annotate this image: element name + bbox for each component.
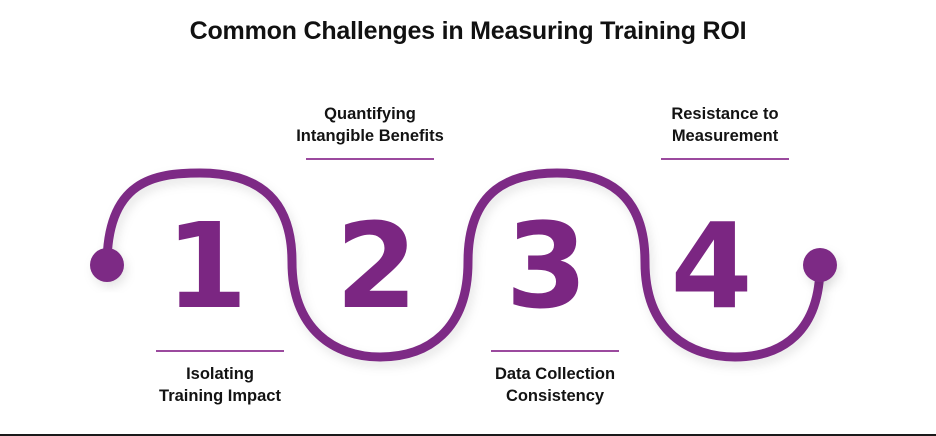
step-label-3-rule — [491, 350, 619, 352]
step-label-2-line1: Quantifying — [255, 104, 485, 126]
step-label-2: Quantifying Intangible Benefits — [255, 104, 485, 160]
step-number-2: 2 — [315, 207, 435, 325]
step-label-3: Data Collection Consistency — [440, 350, 670, 408]
step-number-4: 4 — [650, 207, 770, 325]
step-label-3-line2: Consistency — [440, 386, 670, 408]
step-label-2-line2: Intangible Benefits — [255, 126, 485, 148]
step-label-1-rule — [156, 350, 284, 352]
step-number-1: 1 — [145, 207, 265, 325]
step-label-1-line1: Isolating — [105, 364, 335, 386]
step-label-2-rule — [306, 158, 434, 160]
end-dot-icon — [803, 248, 837, 282]
step-label-4: Resistance to Measurement — [610, 104, 840, 160]
step-label-4-rule — [661, 158, 789, 160]
step-label-4-line2: Measurement — [610, 126, 840, 148]
infographic-canvas: Common Challenges in Measuring Training … — [0, 0, 936, 436]
step-label-3-line1: Data Collection — [440, 364, 670, 386]
step-label-1: Isolating Training Impact — [105, 350, 335, 408]
page-title: Common Challenges in Measuring Training … — [0, 16, 936, 46]
step-number-3: 3 — [485, 207, 605, 325]
step-label-1-line2: Training Impact — [105, 386, 335, 408]
step-label-4-line1: Resistance to — [610, 104, 840, 126]
start-dot-icon — [90, 248, 124, 282]
